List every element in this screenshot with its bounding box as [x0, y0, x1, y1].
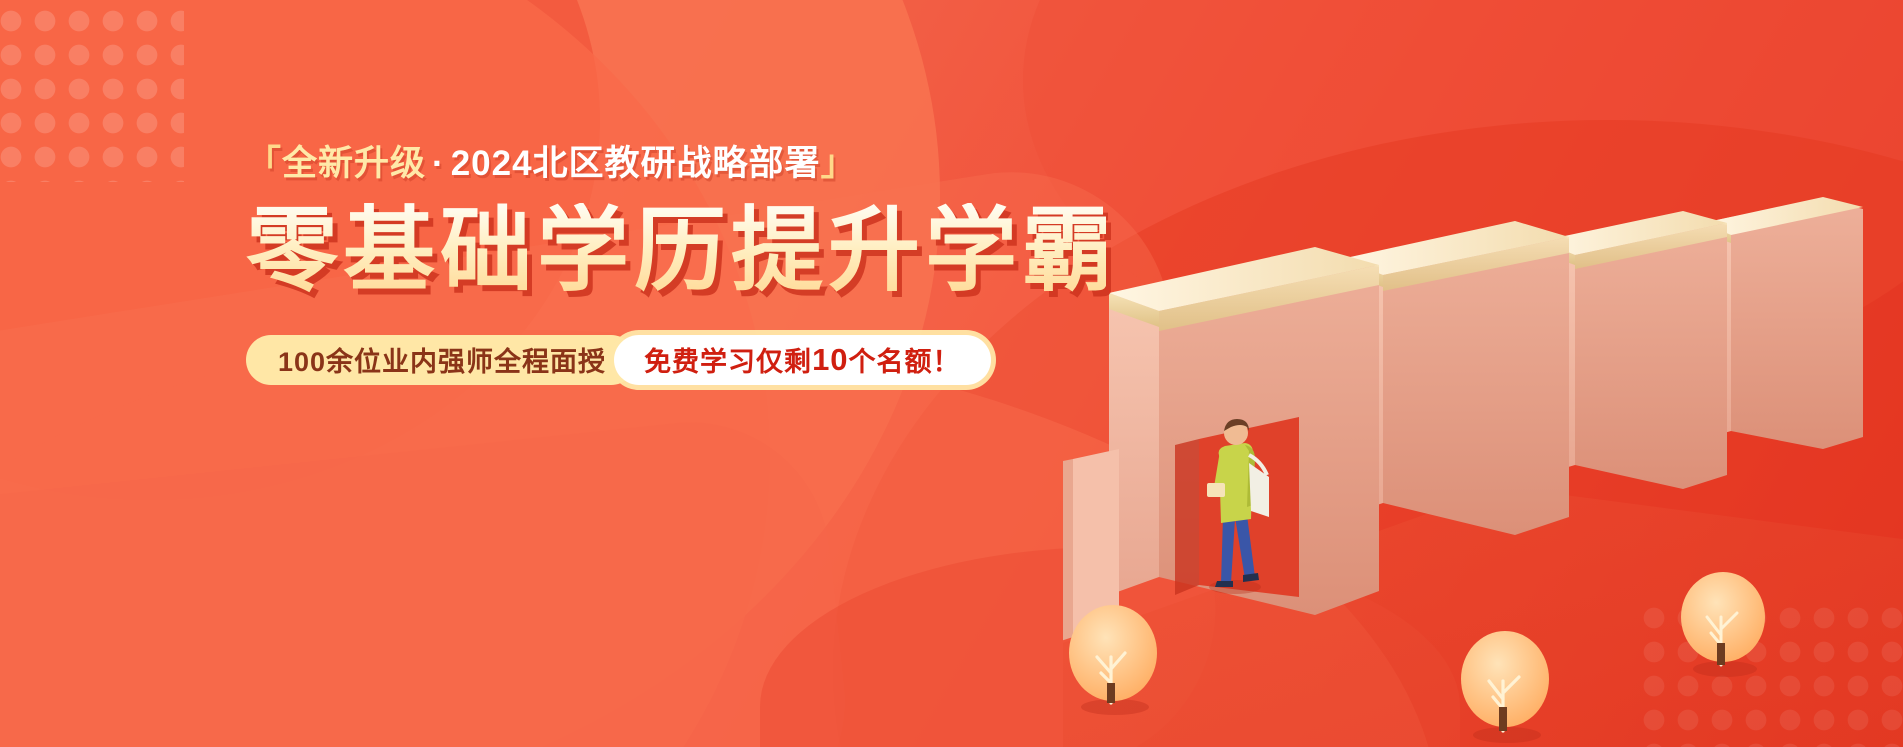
promo-banner: 「全新升级·2024北区教研战略部署」 零基础学历提升学霸班 100余位业内强师… [0, 0, 1903, 747]
banner-headline: 零基础学历提升学霸班 [246, 203, 1106, 301]
subtitle-open-bracket: 「 [246, 144, 282, 183]
badge-free-slots: 免费学习仅剩10个名额！ [614, 335, 990, 385]
badge-free-count: 10 [812, 342, 848, 378]
badge-free-suffix: 个名额！ [849, 340, 961, 379]
dot-grid-pattern-top-left [0, 4, 184, 182]
subtitle-highlight: 全新升级 [282, 144, 426, 183]
banner-copy: 「全新升级·2024北区教研战略部署」 零基础学历提升学霸班 100余位业内强师… [246, 146, 1106, 385]
badge-free-prefix: 免费学习仅剩 [644, 340, 812, 379]
banner-subtitle: 「全新升级·2024北区教研战略部署」 [246, 146, 1106, 181]
subtitle-close-bracket: 」 [821, 144, 857, 183]
badge-row: 100余位业内强师全程面授 免费学习仅剩10个名额！ [246, 335, 1106, 385]
bg-diagonal-shape [0, 408, 859, 747]
subtitle-rest: 2024北区教研战略部署 [451, 144, 821, 183]
badge-teachers: 100余位业内强师全程面授 [246, 335, 636, 385]
badge-teachers-label: 100余位业内强师全程面授 [278, 340, 606, 379]
subtitle-separator: · [426, 144, 451, 183]
